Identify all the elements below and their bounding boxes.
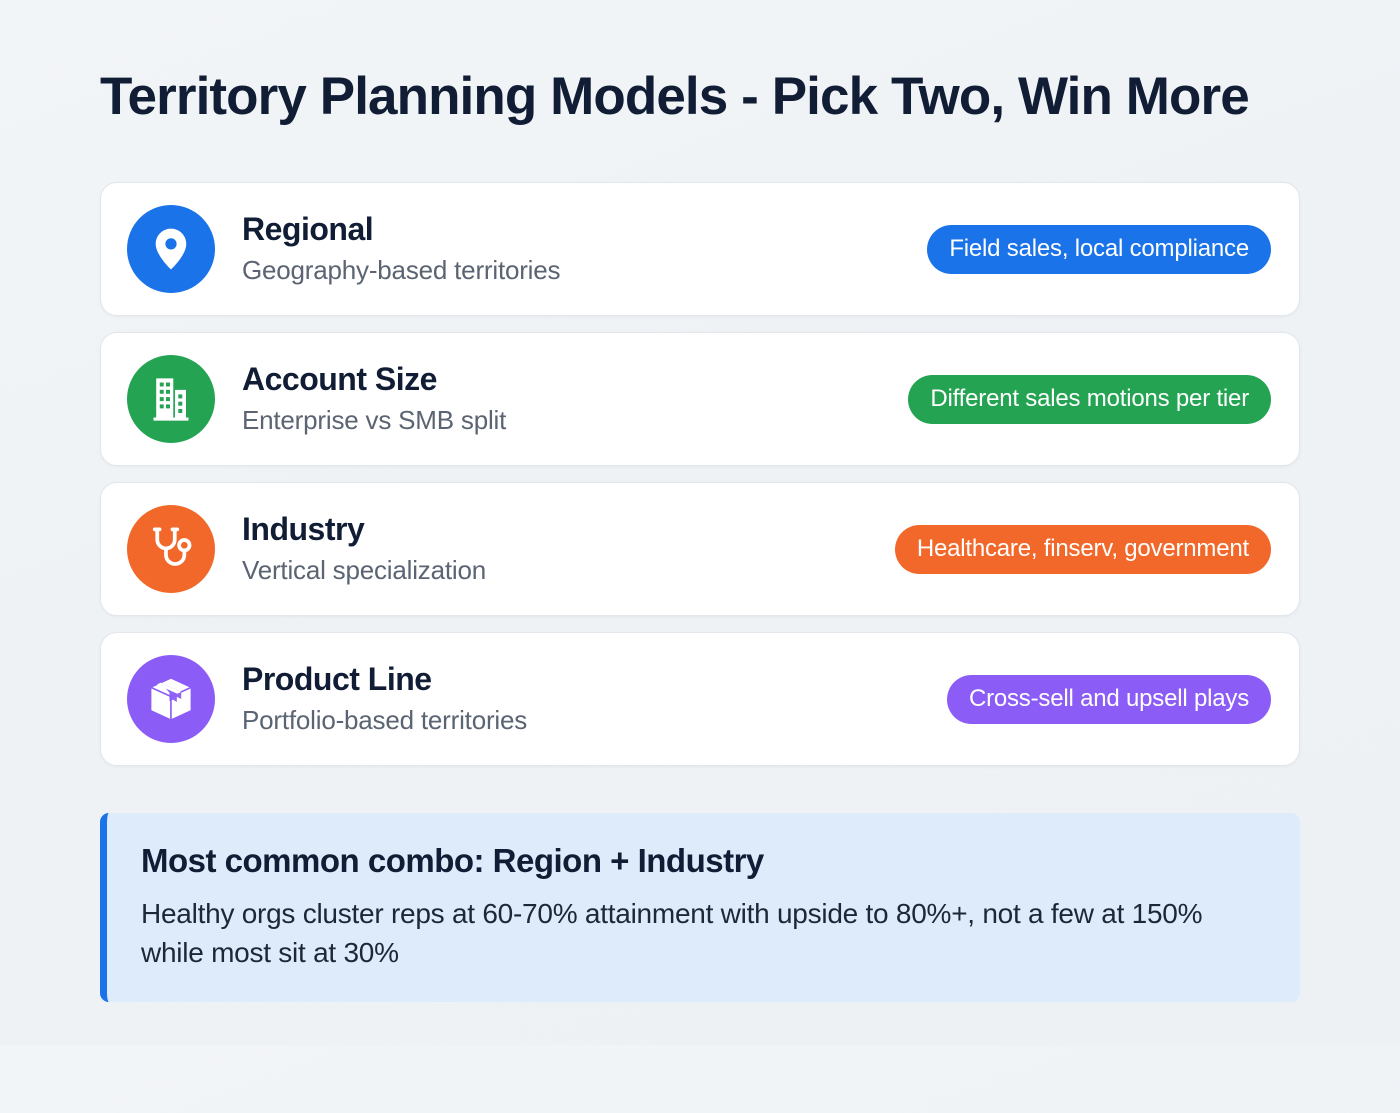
model-badge[interactable]: Healthcare, finserv, government xyxy=(895,525,1271,575)
model-badge[interactable]: Field sales, local compliance xyxy=(927,225,1271,275)
model-card-regional[interactable]: Regional Geography-based territories Fie… xyxy=(100,182,1300,316)
model-subtitle: Enterprise vs SMB split xyxy=(242,404,506,438)
stethoscope-icon xyxy=(127,505,215,593)
model-text-group: Account Size Enterprise vs SMB split xyxy=(242,361,506,439)
model-card-product-line[interactable]: Product Line Portfolio-based territories… xyxy=(100,632,1300,766)
model-text-group: Industry Vertical specialization xyxy=(242,511,486,589)
model-badge[interactable]: Cross-sell and upsell plays xyxy=(947,675,1271,725)
model-subtitle: Vertical specialization xyxy=(242,554,486,588)
callout-body: Healthy orgs cluster reps at 60-70% atta… xyxy=(141,895,1256,972)
callout-title: Most common combo: Region + Industry xyxy=(141,841,1268,881)
map-pin-icon xyxy=(127,205,215,293)
model-card-industry[interactable]: Industry Vertical specialization Healthc… xyxy=(100,482,1300,616)
model-title: Account Size xyxy=(242,361,506,399)
model-text-group: Regional Geography-based territories xyxy=(242,211,560,289)
model-subtitle: Geography-based territories xyxy=(242,254,560,288)
model-title: Industry xyxy=(242,511,486,549)
infographic-page: Territory Planning Models - Pick Two, Wi… xyxy=(0,68,1400,1113)
model-subtitle: Portfolio-based territories xyxy=(242,704,527,738)
model-card-account-size[interactable]: Account Size Enterprise vs SMB split Dif… xyxy=(100,332,1300,466)
model-badge[interactable]: Different sales motions per tier xyxy=(908,375,1271,425)
callout-panel: Most common combo: Region + Industry Hea… xyxy=(100,813,1300,1002)
page-title: Territory Planning Models - Pick Two, Wi… xyxy=(100,68,1300,126)
model-title: Product Line xyxy=(242,661,527,699)
model-text-group: Product Line Portfolio-based territories xyxy=(242,661,527,739)
model-card-list: Regional Geography-based territories Fie… xyxy=(100,182,1300,766)
package-box-icon xyxy=(127,655,215,743)
office-building-icon xyxy=(127,355,215,443)
model-title: Regional xyxy=(242,211,560,249)
